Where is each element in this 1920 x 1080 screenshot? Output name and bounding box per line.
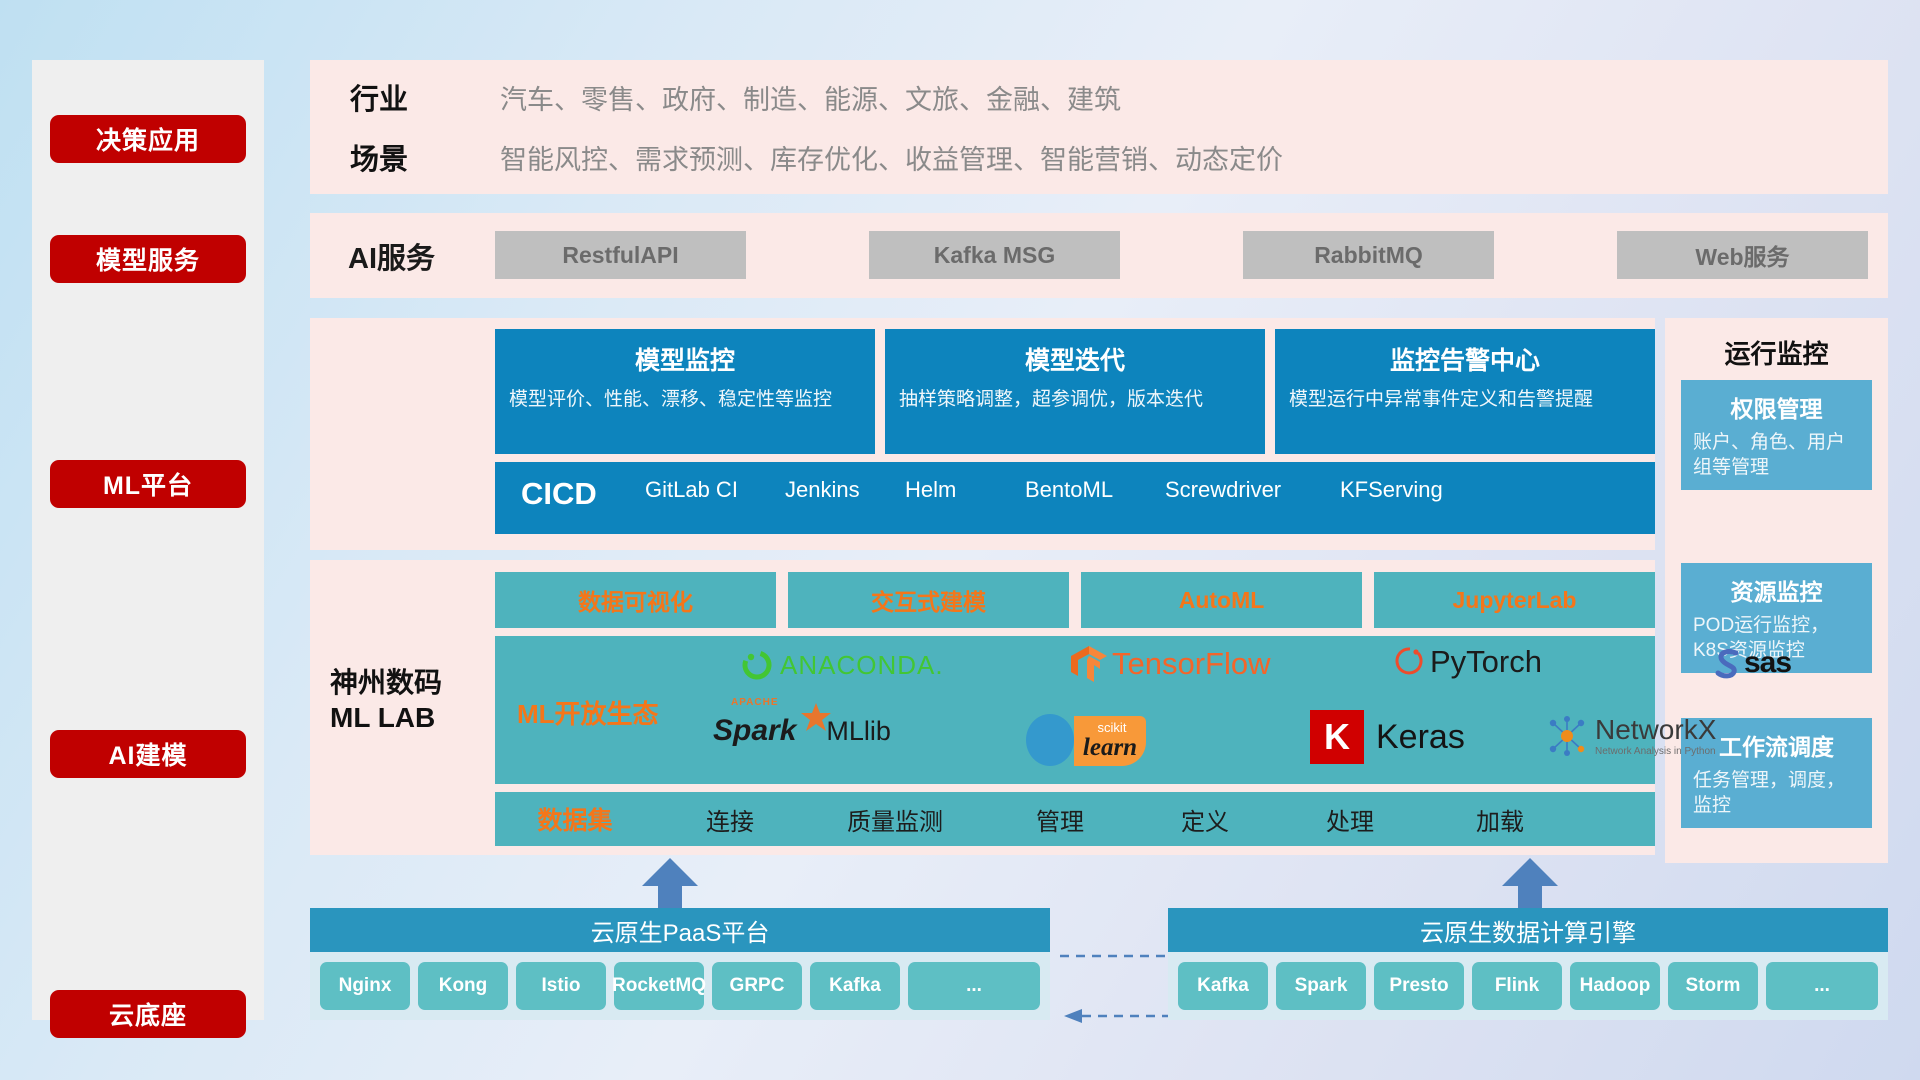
spark-star-mark [801, 702, 831, 732]
up-arrow-icon-left [640, 858, 700, 914]
lab-tab-interactive-modeling[interactable]: 交互式建模 [788, 572, 1069, 628]
paas-chip-more[interactable]: ... [908, 962, 1040, 1010]
paas-chip-istio[interactable]: Istio [516, 962, 606, 1010]
monitor-card-permission[interactable]: 权限管理 账户、角色、用户组等管理 [1681, 380, 1872, 490]
ml-lab-label: 神州数码 ML LAB [330, 665, 490, 735]
spark-wordmark: Spark [713, 714, 796, 747]
industry-label: 行业 [350, 76, 408, 118]
paas-chip-nginx[interactable]: Nginx [320, 962, 410, 1010]
networkx-mark [1545, 714, 1589, 758]
service-chip-rabbitmq[interactable]: RabbitMQ [1243, 231, 1494, 279]
anaconda-mark [740, 648, 774, 682]
cicd-item-bentoml[interactable]: BentoML [1025, 476, 1165, 504]
mlops-panel: MLOps 模型监控 模型评价、性能、漂移、稳定性等监控 模型迭代 抽样策略调整… [310, 318, 1655, 550]
learn-text: learn [1083, 734, 1137, 761]
engine-chip-spark[interactable]: Spark [1276, 962, 1366, 1010]
cicd-item-screwdriver[interactable]: Screwdriver [1165, 476, 1340, 504]
engine-chip-kafka[interactable]: Kafka [1178, 962, 1268, 1010]
service-chip-web-service[interactable]: Web服务 [1617, 231, 1868, 279]
dataset-item-load[interactable]: 加载 [1425, 802, 1575, 837]
cicd-item-gitlab-ci[interactable]: GitLab CI [645, 476, 785, 504]
card-desc: 模型评价、性能、漂移、稳定性等监控 [509, 387, 861, 413]
keras-mark: K [1310, 710, 1364, 764]
rail-item-model-service[interactable]: 模型服务 [50, 235, 246, 283]
mlops-card-alert-center[interactable]: 监控告警中心 模型运行中异常事件定义和告警提醒 [1275, 329, 1655, 454]
paas-chip-kafka[interactable]: Kafka [810, 962, 900, 1010]
cicd-bar: CICD GitLab CI Jenkins Helm BentoML Scre… [495, 462, 1655, 534]
rail-item-ai-modeling[interactable]: AI建模 [50, 730, 246, 778]
left-rail: 决策应用 模型服务 ML平台 AI建模 云底座 [32, 60, 264, 1020]
pytorch-logo: PyTorch [1395, 644, 1542, 680]
cloud-paas-tray: Nginx Kong Istio RocketMQ GRPC Kafka ... [310, 952, 1050, 1020]
architecture-diagram: 决策应用 模型服务 ML平台 AI建模 云底座 行业 汽车、零售、政府、制造、能… [0, 0, 1920, 1080]
service-chip-restfulapi[interactable]: RestfulAPI [495, 231, 746, 279]
run-monitor-title: 运行监控 [1665, 334, 1888, 371]
scene-value: 智能风控、需求预测、库存优化、收益管理、智能营销、动态定价 [500, 138, 1283, 177]
cloud-paas-title: 云原生PaaS平台 [310, 908, 1050, 952]
tensorflow-logo: TensorFlow [1070, 644, 1271, 684]
tensorflow-mark [1070, 644, 1108, 684]
up-arrow-icon-right [1500, 858, 1560, 914]
cicd-label: CICD [495, 476, 645, 512]
dataset-label: 数据集 [495, 801, 655, 837]
lab-tab-data-visualization[interactable]: 数据可视化 [495, 572, 776, 628]
card-title: 工作流调度 [1693, 728, 1860, 762]
networkx-tagline: Network Analysis in Python [1595, 746, 1716, 757]
card-desc: 抽样策略调整，超参调优，版本迭代 [899, 387, 1251, 413]
keras-logo: K Keras [1310, 710, 1465, 764]
engine-chip-storm[interactable]: Storm [1668, 962, 1758, 1010]
sas-mark [1710, 646, 1744, 680]
scikit-learn-logo: scikit learn [1020, 710, 1150, 766]
card-desc: 账户、角色、用户组等管理 [1693, 431, 1860, 480]
anaconda-wordmark: ANACONDA. [780, 650, 944, 681]
dataset-item-define[interactable]: 定义 [1135, 802, 1275, 837]
mllib-wordmark: MLlib [826, 716, 891, 747]
service-chip-kafka-msg[interactable]: Kafka MSG [869, 231, 1120, 279]
scikit-kicker-text: scikit [1098, 720, 1127, 735]
pytorch-mark [1395, 645, 1425, 679]
ml-lab-panel: 神州数码 ML LAB 数据可视化 交互式建模 AutoML JupyterLa… [310, 560, 1655, 855]
cloud-data-engine-tray: Kafka Spark Presto Flink Hadoop Storm ..… [1168, 952, 1888, 1020]
card-title: 权限管理 [1693, 390, 1860, 424]
paas-chip-grpc[interactable]: GRPC [712, 962, 802, 1010]
paas-chip-kong[interactable]: Kong [418, 962, 508, 1010]
engine-chip-hadoop[interactable]: Hadoop [1570, 962, 1660, 1010]
run-monitor-panel: 运行监控 权限管理 账户、角色、用户组等管理 资源监控 POD运行监控，K8S资… [1665, 318, 1888, 863]
rail-item-cloud-base[interactable]: 云底座 [50, 990, 246, 1038]
engine-chip-presto[interactable]: Presto [1374, 962, 1464, 1010]
spark-mllib-logo: APACHE Spark MLlib [713, 714, 891, 748]
card-desc: 任务管理，调度，监控 [1693, 769, 1860, 818]
dataset-item-quality[interactable]: 质量监测 [805, 802, 985, 837]
cicd-item-helm[interactable]: Helm [905, 476, 1025, 504]
mlops-card-model-monitor[interactable]: 模型监控 模型评价、性能、漂移、稳定性等监控 [495, 329, 875, 454]
paas-chip-rocketmq[interactable]: RocketMQ [614, 962, 704, 1010]
industry-value: 汽车、零售、政府、制造、能源、文旅、金融、建筑 [500, 78, 1121, 117]
ai-service-label: AI服务 [348, 213, 435, 298]
dataset-row: 数据集 连接 质量监测 管理 定义 处理 加载 [495, 792, 1655, 846]
networkx-logo: NetworkX Network Analysis in Python [1545, 714, 1716, 758]
engine-chip-flink[interactable]: Flink [1472, 962, 1562, 1010]
spark-kicker: APACHE [731, 697, 778, 708]
rail-item-decision-app[interactable]: 决策应用 [50, 115, 246, 163]
networkx-wordmark: NetworkX [1595, 716, 1716, 744]
cloud-data-engine-title: 云原生数据计算引擎 [1168, 908, 1888, 952]
dataset-item-manage[interactable]: 管理 [985, 802, 1135, 837]
engine-chip-more[interactable]: ... [1766, 962, 1878, 1010]
lab-tab-automl[interactable]: AutoML [1081, 572, 1362, 628]
scene-label: 场景 [350, 136, 408, 178]
card-title: 模型监控 [509, 341, 861, 377]
lab-tab-jupyterlab[interactable]: JupyterLab [1374, 572, 1655, 628]
ml-open-ecosystem-band: ML开放生态 ANACONDA. TensorFlow [495, 636, 1655, 784]
card-title: 模型迭代 [899, 341, 1251, 377]
keras-wordmark: Keras [1376, 718, 1465, 757]
dataset-item-process[interactable]: 处理 [1275, 802, 1425, 837]
card-desc: 模型运行中异常事件定义和告警提醒 [1289, 387, 1641, 413]
ml-lab-label-line2: ML LAB [330, 700, 490, 735]
card-title: 监控告警中心 [1289, 341, 1641, 377]
sas-wordmark: sas [1744, 646, 1791, 680]
ml-open-ecosystem-label: ML开放生态 [517, 694, 659, 731]
dataset-item-connect[interactable]: 连接 [655, 802, 805, 837]
decision-app-panel: 行业 汽车、零售、政府、制造、能源、文旅、金融、建筑 场景 智能风控、需求预测、… [310, 60, 1888, 194]
sas-logo: sas [1710, 646, 1791, 680]
ml-lab-label-line1: 神州数码 [330, 665, 490, 700]
anaconda-logo: ANACONDA. [740, 648, 944, 682]
cicd-item-kfserving[interactable]: KFServing [1340, 476, 1490, 504]
pytorch-wordmark: PyTorch [1430, 644, 1542, 680]
ai-service-panel: AI服务 RestfulAPI Kafka MSG RabbitMQ Web服务 [310, 213, 1888, 298]
card-title: 资源监控 [1693, 573, 1860, 607]
cicd-item-jenkins[interactable]: Jenkins [785, 476, 905, 504]
scikit-learn-mark: scikit learn [1020, 710, 1150, 766]
mlops-card-model-iteration[interactable]: 模型迭代 抽样策略调整，超参调优，版本迭代 [885, 329, 1265, 454]
rail-item-ml-platform[interactable]: ML平台 [50, 460, 246, 508]
tensorflow-wordmark: TensorFlow [1112, 646, 1271, 682]
